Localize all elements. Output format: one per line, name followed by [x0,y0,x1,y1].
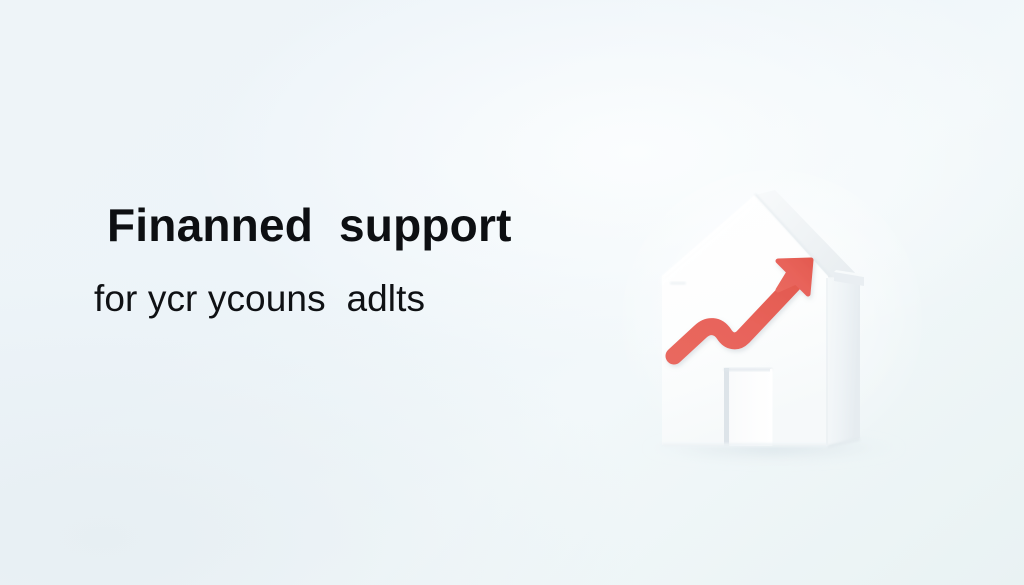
house-side-wall [826,277,860,446]
page-subtitle: for ycr ycouns adlts [0,254,600,322]
house-door [724,368,773,446]
door-right-edge-highlight [770,369,773,446]
banner-root: Finanned support for ycr ycouns adlts [0,0,1024,585]
house-base-front [662,443,828,447]
house-illustration [612,160,942,490]
door-lintel-shadow [724,368,772,371]
door-opening [724,368,772,446]
page-title: Finanned support [0,196,600,254]
house-wall-marking [670,282,686,285]
door-left-reveal-shadow [724,368,729,446]
headline-block: Finanned support for ycr ycouns adlts [0,196,600,322]
